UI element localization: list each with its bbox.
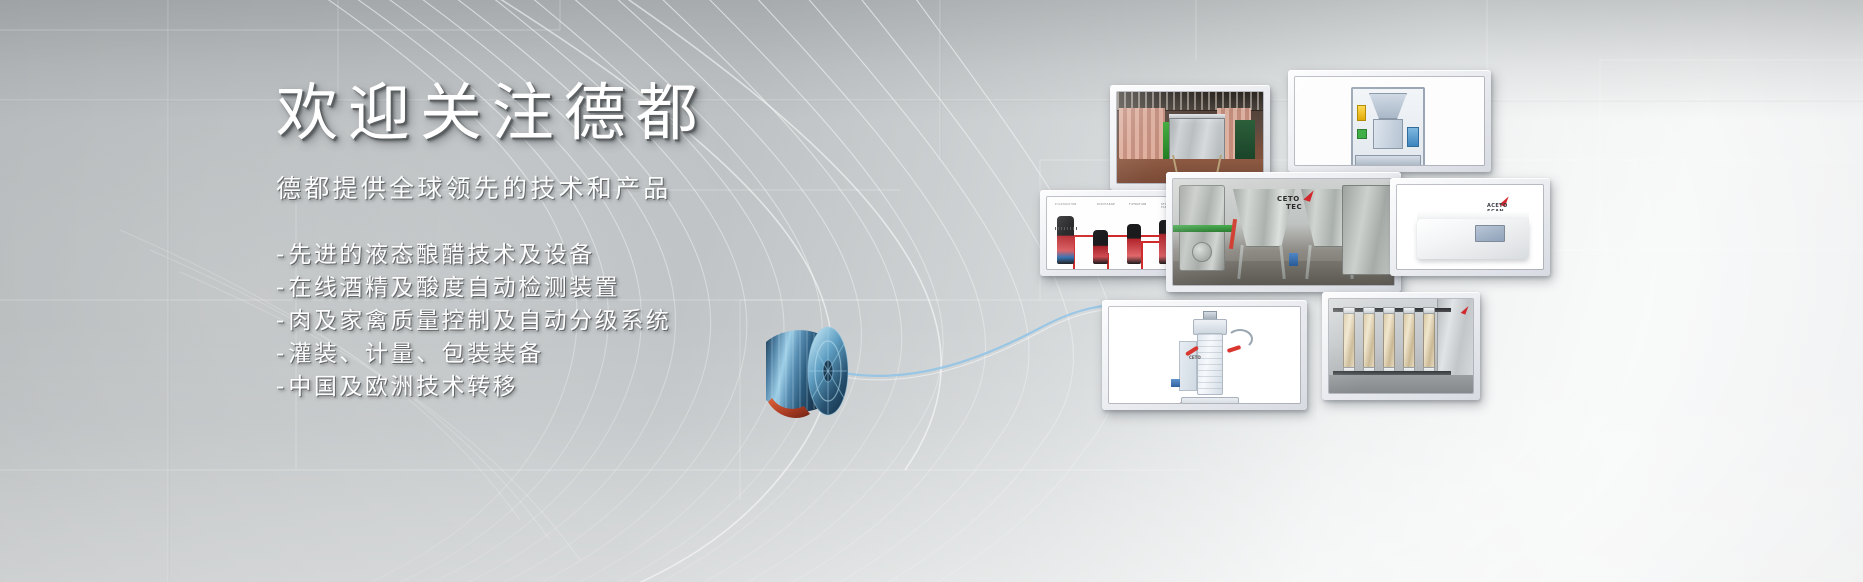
yellow-component bbox=[1357, 105, 1366, 121]
blue-fitting bbox=[1171, 379, 1180, 387]
bullet-dash: - bbox=[276, 242, 284, 268]
list-item-label: 在线酒精及酸度自动检测装置 bbox=[288, 275, 620, 301]
panel-image: CETO bbox=[1109, 307, 1300, 403]
flow-diagram-headers: EVAPORATION DISCHARGE FILTRATION STORAGE… bbox=[1047, 203, 1181, 212]
panel-image bbox=[1117, 92, 1263, 183]
panel-lab-glass-reactor[interactable]: CETO bbox=[1102, 300, 1307, 410]
page-title: 欢迎关注德都 bbox=[276, 82, 896, 144]
bullet-dash: - bbox=[276, 341, 284, 367]
feature-list: -先进的液态酿醋技术及设备 -在线酒精及酸度自动检测装置 -肉及家禽质量控制及自… bbox=[276, 239, 896, 404]
module-cap bbox=[1343, 307, 1355, 314]
bullet-dash: - bbox=[276, 275, 284, 301]
panel-cad-machine-drawing[interactable] bbox=[1288, 70, 1491, 172]
membrane-module bbox=[1343, 313, 1355, 369]
red-valve-handle bbox=[1229, 219, 1237, 249]
page-subtitle: 德都提供全球领先的技术和产品 bbox=[276, 176, 896, 201]
tank bbox=[1127, 224, 1141, 264]
red-handle bbox=[1227, 345, 1242, 353]
list-item: -在线酒精及酸度自动检测装置 bbox=[276, 272, 896, 305]
poultry-line-scene bbox=[1117, 92, 1263, 183]
module-cap bbox=[1403, 307, 1415, 314]
blue-motor bbox=[1407, 127, 1419, 147]
module-cap bbox=[1363, 307, 1375, 314]
reactor-label: CETO bbox=[1189, 355, 1201, 360]
glass-column bbox=[1197, 333, 1223, 395]
flow-header-2: FILTRATION bbox=[1129, 203, 1147, 206]
bullet-dash: - bbox=[276, 308, 284, 334]
list-item-label: 中国及欧洲技术转移 bbox=[288, 374, 518, 400]
module-cap bbox=[1383, 307, 1395, 314]
tank-room-scene: CETO TEC bbox=[1173, 179, 1394, 285]
panel-aceto-scan-analyser[interactable]: ACETO SCAN bbox=[1390, 178, 1550, 276]
flow-header-0: EVAPORATION bbox=[1055, 203, 1077, 206]
list-item: -先进的液态酿醋技术及设备 bbox=[276, 239, 896, 272]
device-body bbox=[1417, 219, 1529, 259]
green-conveyor bbox=[1173, 225, 1233, 232]
brand-logo-cetotec: CETO TEC bbox=[1277, 195, 1302, 211]
bullet-dash: - bbox=[276, 374, 284, 400]
flow-diagram-scene: EVAPORATION DISCHARGE FILTRATION STORAGE… bbox=[1047, 197, 1181, 269]
reactor-base bbox=[1181, 397, 1239, 403]
list-item-label: 肉及家禽质量控制及自动分级系统 bbox=[288, 308, 671, 334]
brand-line-2: TEC bbox=[1286, 203, 1302, 211]
panel-fermentation-tank-room[interactable]: CETO TEC bbox=[1166, 172, 1401, 292]
list-item-label: 先进的液态酿醋技术及设备 bbox=[288, 242, 594, 268]
device-screen bbox=[1475, 225, 1505, 242]
panel-image: CETO TEC bbox=[1173, 179, 1394, 285]
cad-drawing-scene bbox=[1295, 77, 1484, 165]
panel-membrane-filtration-skid[interactable] bbox=[1322, 292, 1480, 400]
reactor-scene: CETO bbox=[1109, 307, 1300, 403]
pipe-vertical bbox=[1141, 241, 1143, 269]
panel-image: EVAPORATION DISCHARGE FILTRATION STORAGE… bbox=[1047, 197, 1181, 269]
machine-base bbox=[1355, 155, 1421, 165]
brand-line-1: CETO bbox=[1277, 195, 1302, 203]
module-cap bbox=[1423, 307, 1435, 314]
list-item: -中国及欧洲技术转移 bbox=[276, 371, 896, 404]
green-component bbox=[1357, 129, 1367, 139]
membrane-module bbox=[1423, 313, 1435, 369]
filtration-skid-scene bbox=[1329, 299, 1473, 393]
tank bbox=[1057, 216, 1074, 264]
membrane-module bbox=[1403, 313, 1415, 369]
list-item-label: 灌装、计量、包装装备 bbox=[288, 341, 543, 367]
analyser-scene: ACETO SCAN bbox=[1397, 185, 1543, 269]
machine-body bbox=[1373, 119, 1403, 149]
panel-image bbox=[1295, 77, 1484, 165]
headline-block: 欢迎关注德都 德都提供全球领先的技术和产品 -先进的液态酿醋技术及设备 -在线酒… bbox=[276, 82, 896, 404]
list-item: -灌装、计量、包装装备 bbox=[276, 338, 896, 371]
promo-banner: 欢迎关注德都 德都提供全球领先的技术和产品 -先进的液态酿醋技术及设备 -在线酒… bbox=[0, 0, 1863, 582]
membrane-module bbox=[1383, 313, 1395, 369]
tank bbox=[1093, 230, 1108, 264]
panel-image bbox=[1329, 299, 1473, 393]
right-vessel bbox=[1342, 185, 1392, 275]
flow-header-1: DISCHARGE bbox=[1097, 203, 1115, 206]
tank-platform bbox=[1055, 227, 1077, 230]
factory-floor bbox=[1329, 375, 1473, 393]
panel-image: ACETO SCAN bbox=[1397, 185, 1543, 269]
membrane-module bbox=[1363, 313, 1375, 369]
list-item: -肉及家禽质量控制及自动分级系统 bbox=[276, 305, 896, 338]
blue-pump bbox=[1289, 253, 1298, 266]
